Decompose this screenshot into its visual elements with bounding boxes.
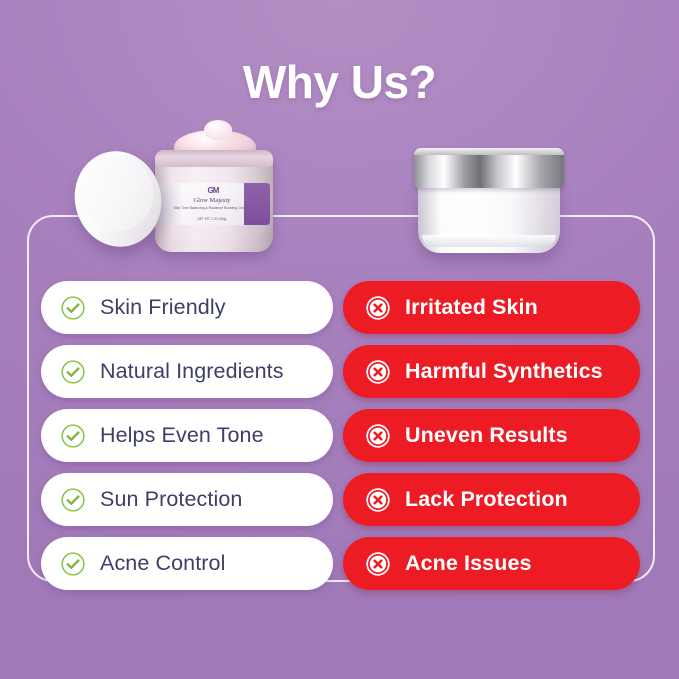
drawback-label: Irritated Skin xyxy=(405,295,538,320)
check-circle-icon xyxy=(60,487,86,513)
x-circle-icon xyxy=(365,551,391,577)
jar-label: GM Glow Majesty Skin Tone Balancing & Ra… xyxy=(158,183,270,225)
drawback-label: Harmful Synthetics xyxy=(405,359,603,384)
generic-jar-body xyxy=(418,182,560,253)
check-circle-icon xyxy=(60,359,86,385)
benefit-label: Skin Friendly xyxy=(100,295,226,320)
benefit-label: Helps Even Tone xyxy=(100,423,264,448)
check-circle-icon xyxy=(60,551,86,577)
x-circle-icon xyxy=(365,423,391,449)
drawback-pill[interactable]: Lack Protection xyxy=(343,473,640,526)
brand-monogram: GM xyxy=(188,186,238,195)
benefit-pill[interactable]: Skin Friendly xyxy=(41,281,333,334)
why-us-poster: Why Us? GM Glow Majesty Skin Tone Balanc… xyxy=(0,0,679,679)
drawback-label: Lack Protection xyxy=(405,487,568,512)
check-circle-icon xyxy=(60,423,86,449)
benefit-pill[interactable]: Natural Ingredients xyxy=(41,345,333,398)
x-circle-icon xyxy=(365,359,391,385)
benefit-label: Sun Protection xyxy=(100,487,242,512)
comparison-row: Acne Control Acne Issues xyxy=(0,537,679,590)
comparison-row: Natural Ingredients Harmful Synthetics xyxy=(0,345,679,398)
benefit-pill[interactable]: Sun Protection xyxy=(41,473,333,526)
product-image-generic-jar xyxy=(414,148,564,253)
check-circle-icon xyxy=(60,295,86,321)
product-image-branded-jar: GM Glow Majesty Skin Tone Balancing & Ra… xyxy=(70,128,300,253)
benefit-label: Acne Control xyxy=(100,551,226,576)
benefit-pill[interactable]: Helps Even Tone xyxy=(41,409,333,462)
comparison-row: Sun Protection Lack Protection xyxy=(0,473,679,526)
drawback-label: Acne Issues xyxy=(405,551,532,576)
comparison-row: Skin Friendly Irritated Skin xyxy=(0,281,679,334)
generic-jar-lid xyxy=(414,148,564,188)
drawback-pill[interactable]: Harmful Synthetics xyxy=(343,345,640,398)
jar-rim xyxy=(155,150,273,167)
comparison-rows: Skin Friendly Irritated Skin xyxy=(0,281,679,601)
brand-name: Glow Majesty xyxy=(176,197,248,204)
drawback-pill[interactable]: Uneven Results xyxy=(343,409,640,462)
drawback-pill[interactable]: Acne Issues xyxy=(343,537,640,590)
benefit-label: Natural Ingredients xyxy=(100,359,284,384)
x-circle-icon xyxy=(365,295,391,321)
label-description: Skin Tone Balancing & Radiance Boosting … xyxy=(166,206,256,211)
drawback-pill[interactable]: Irritated Skin xyxy=(343,281,640,334)
label-net-weight: NET WT. 2 OZ (50g) xyxy=(176,217,248,221)
x-circle-icon xyxy=(365,487,391,513)
drawback-label: Uneven Results xyxy=(405,423,568,448)
comparison-row: Helps Even Tone Uneven Results xyxy=(0,409,679,462)
benefit-pill[interactable]: Acne Control xyxy=(41,537,333,590)
page-title: Why Us? xyxy=(0,55,679,109)
